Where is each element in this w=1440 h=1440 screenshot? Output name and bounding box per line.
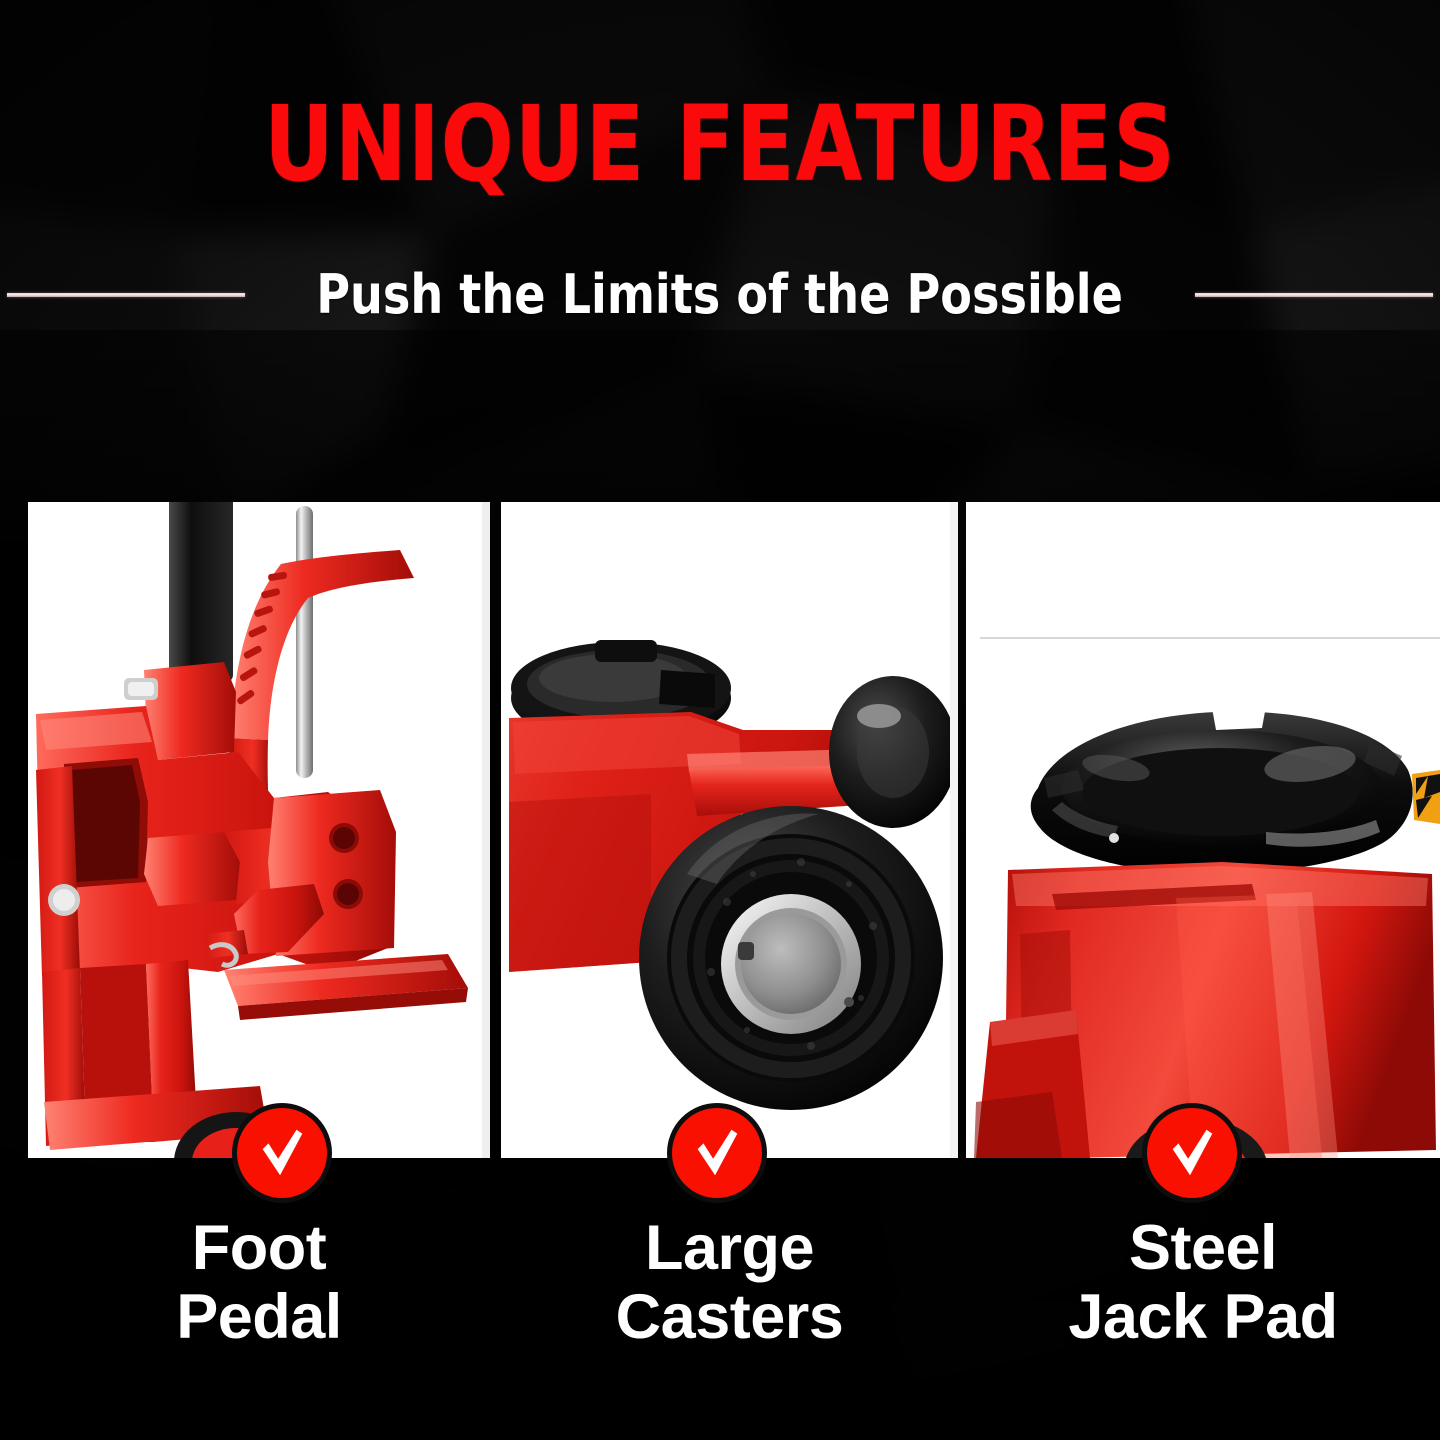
check-badge [667,1103,767,1203]
feature-card-foot-pedal: Foot Pedal [28,502,490,1158]
feature-photo-foot-pedal [28,502,490,1158]
divider-line-right [1195,293,1433,297]
page-title: UNIQUE FEATURES [58,92,1383,196]
subtitle-row: Push the Limits of the Possible [0,268,1440,322]
feature-card-large-casters: Large Casters [501,502,958,1158]
check-icon [688,1124,746,1182]
page-subtitle: Push the Limits of the Possible [317,268,1124,322]
check-badge [1142,1103,1242,1203]
check-icon [253,1124,311,1182]
feature-photo-steel-jack-pad [966,502,1440,1158]
divider-line-left [7,293,245,297]
feature-card-steel-jack-pad: Steel Jack Pad [966,502,1440,1158]
check-icon [1163,1124,1221,1182]
check-badge [232,1103,332,1203]
feature-panel-list: Foot Pedal [0,502,1440,1440]
feature-caption: Large Casters [501,1214,958,1353]
feature-photo-large-casters [501,502,958,1158]
feature-caption: Steel Jack Pad [966,1214,1440,1353]
feature-caption: Foot Pedal [28,1214,490,1353]
